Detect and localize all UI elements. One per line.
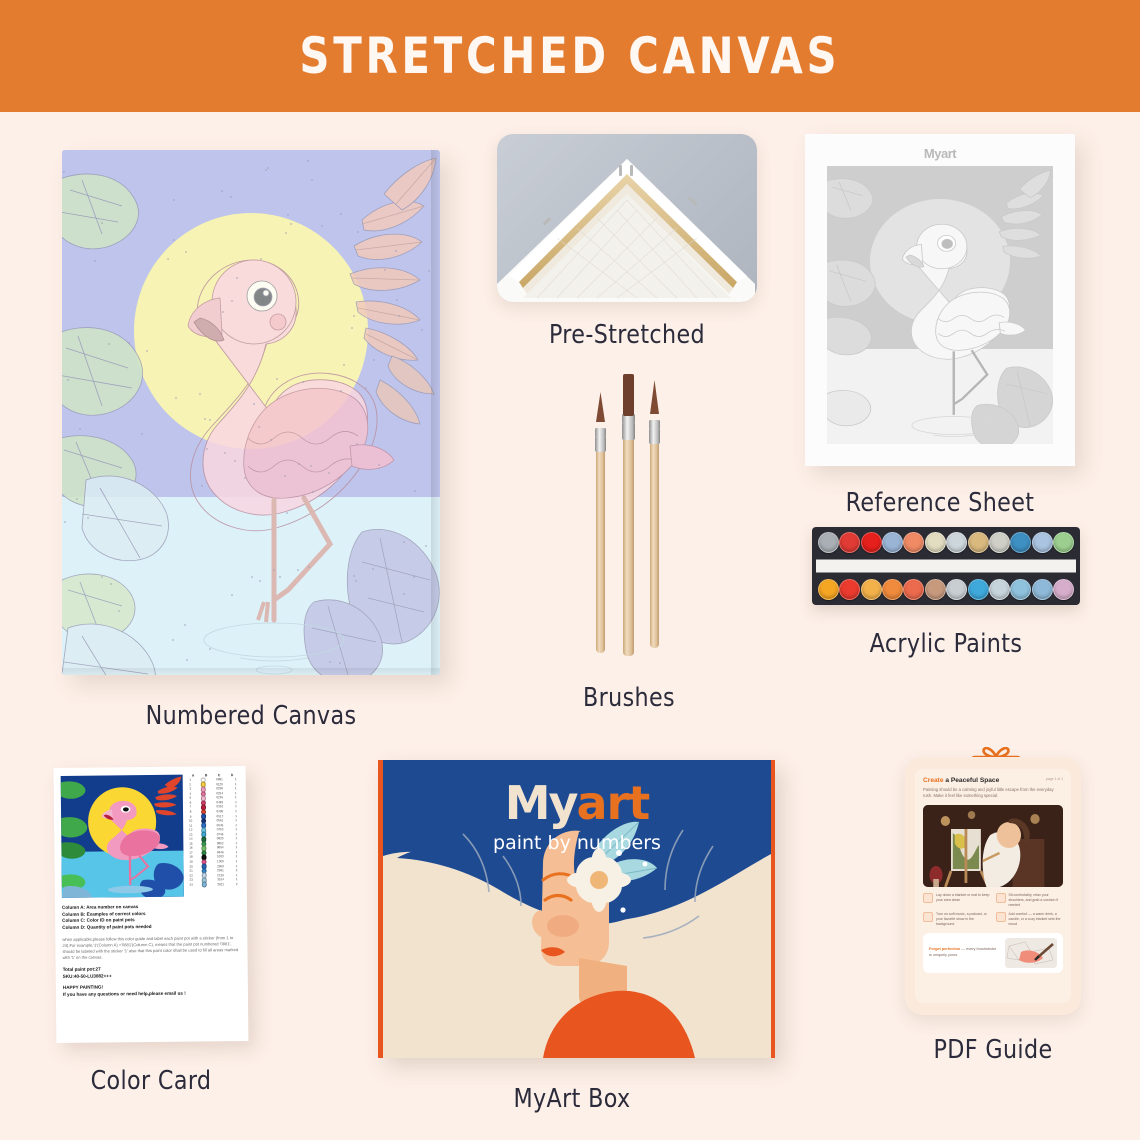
canvas-number-dot [87, 517, 89, 519]
cell-color-id: 0245 [213, 797, 226, 800]
canvas-number-dot [290, 223, 292, 225]
cell-area-number: 16 [187, 847, 194, 850]
canvas-number-dot [353, 575, 355, 577]
canvas-number-dot [128, 342, 130, 344]
canvas-number-dot [328, 472, 330, 474]
canvas-number-dot [421, 329, 423, 331]
product-reference-sheet[interactable]: Myart [805, 134, 1087, 479]
canvas-number-dot [373, 359, 375, 361]
color-card-artwork [61, 775, 184, 898]
page-title: STRETCHED CANVAS [300, 27, 841, 85]
tip-icon [923, 893, 933, 903]
canvas-number-dot [428, 270, 430, 272]
canvas-flamingo-artwork [62, 150, 440, 675]
canvas-number-dot [258, 426, 260, 428]
canvas-number-dot [76, 498, 78, 500]
color-card-paper: A B C D 10881120120130298140254150245160… [54, 766, 249, 1043]
paint-pot[interactable] [861, 579, 882, 600]
tip-item: Sit comfortably, relax your shoulders, a… [996, 893, 1064, 908]
color-card-legend: Column A: Area number on canvas Column B… [62, 903, 240, 931]
paint-tray [812, 527, 1080, 605]
legend-line: Column D: Quantity of paint pots needed [62, 923, 240, 932]
cell-area-number: 1 [187, 779, 194, 782]
canvas-number-dot [340, 213, 342, 215]
logo-my-text: My [505, 776, 577, 830]
color-card-footer: Total paint pot:27 SKU:40-50-LU3882+++ H… [63, 965, 241, 998]
canvas-number-dot [260, 258, 262, 260]
cell-area-number: 23 [188, 879, 195, 882]
canvas-number-dot [64, 521, 66, 523]
cell-color-id: 0854 [214, 847, 227, 850]
pdf-guide-quote: Forget perfection — every brushstroke is… [923, 933, 1063, 973]
canvas-number-dot [279, 576, 281, 578]
color-card-note: when applicable,please follow this color… [62, 935, 240, 961]
caption-pdf-guide: PDF Guide [909, 1035, 1076, 1065]
paint-pot[interactable] [903, 532, 924, 553]
canvas-number-dot [357, 231, 359, 233]
product-myart-box[interactable]: Myart paint by numbers MyArt Box [378, 760, 770, 1070]
paint-tray-label-strip [816, 560, 1076, 573]
col-a: A [192, 775, 194, 778]
cell-area-number: 8 [187, 811, 194, 814]
reference-sheet-logo: Myart [805, 146, 1075, 161]
cell-quantity: 1 [233, 810, 239, 813]
myart-logo: Myart paint by numbers [383, 776, 771, 854]
paint-row-bottom [816, 579, 1076, 600]
canvas-number-dot [94, 260, 96, 262]
tip-item: Lay down a blanket or mat to keep your a… [923, 893, 991, 908]
logo-art-text: art [577, 776, 650, 830]
cell-swatch [201, 882, 207, 888]
reference-sheet-paper: Myart [805, 134, 1075, 466]
tip-text: Sit comfortably, relax your shoulders, a… [1009, 893, 1064, 908]
canvas-number-dot [286, 512, 288, 514]
canvas-number-dot [230, 196, 232, 198]
quote-accent: Forget perfection [929, 947, 960, 951]
paint-pot[interactable] [839, 532, 860, 553]
brush-flat [622, 374, 635, 656]
tip-item: Turn on soft music, a podcast, or your f… [923, 912, 991, 927]
tip-text: Lay down a blanket or mat to keep your a… [936, 893, 991, 908]
paint-pot[interactable] [1053, 579, 1074, 600]
cell-quantity: 1 [233, 846, 239, 849]
paint-pot[interactable] [925, 532, 946, 553]
cell-area-number: 19 [188, 861, 195, 864]
cell-area-number: 3 [187, 788, 194, 791]
cell-area-number: 24 [188, 883, 195, 886]
paint-pot[interactable] [968, 579, 989, 600]
caption-brushes: Brushes [563, 683, 696, 713]
pdf-guide-title: Create a Peaceful Space [923, 777, 1063, 784]
canvas-number-dot [372, 568, 374, 570]
color-card-row: 2439212 [188, 882, 240, 887]
myart-box-image: Myart paint by numbers [378, 760, 775, 1058]
canvas-number-dot [172, 639, 174, 641]
cell-color-id: 0561 [213, 819, 226, 822]
canvas-number-dot [67, 379, 69, 381]
pdf-title-accent: Create [923, 777, 944, 784]
canvas-number-dot [270, 439, 272, 441]
tip-text: Add comfort — a warm drink, a candle, or… [1009, 912, 1064, 927]
canvas-number-dot [355, 580, 357, 582]
cell-color-id: 0753 [214, 828, 227, 831]
product-grid: Numbered Canvas [0, 112, 1140, 1140]
paint-pot[interactable] [968, 532, 989, 553]
cell-color-id: 0820 [214, 837, 227, 840]
canvas-number-dot [365, 387, 367, 389]
cell-area-number: 14 [187, 838, 194, 841]
cell-quantity: 1 [234, 860, 240, 863]
cell-quantity: 1 [234, 878, 240, 881]
canvas-number-dot [403, 541, 405, 543]
quote-thumbnail [1005, 938, 1057, 968]
product-numbered-canvas[interactable]: Numbered Canvas [62, 150, 440, 675]
canvas-frame-corner-illustration [497, 134, 757, 302]
pdf-title-rest: a Peaceful Space [944, 777, 1000, 784]
brush-liner [649, 380, 660, 648]
cell-quantity: 2 [234, 869, 240, 872]
canvas-number-dot [398, 315, 400, 317]
product-acrylic-paints[interactable]: Acrylic Paints [812, 527, 1082, 677]
canvas-edge-shadow-bottom [62, 668, 440, 675]
product-pre-stretched[interactable]: Pre-Stretched [497, 134, 757, 314]
canvas-number-dot [311, 179, 313, 181]
paint-pot[interactable] [1010, 579, 1031, 600]
cell-color-id: 0298 [213, 787, 226, 790]
pdf-page-number: page 1 of 1 [1046, 777, 1063, 781]
paint-pot[interactable] [1032, 579, 1053, 600]
paint-pot[interactable] [818, 532, 839, 553]
numbered-canvas-image [62, 150, 440, 675]
caption-numbered-canvas: Numbered Canvas [71, 701, 430, 731]
cell-quantity: 1 [233, 837, 239, 840]
tip-item: Add comfort — a warm drink, a candle, or… [996, 912, 1064, 927]
col-d: D [231, 774, 233, 777]
cell-area-number: 12 [187, 829, 194, 832]
tip-text: Turn on soft music, a podcast, or your f… [936, 912, 991, 927]
product-brushes[interactable]: Brushes [560, 362, 700, 682]
tip-icon [923, 912, 933, 922]
cell-quantity: 1 [233, 787, 239, 790]
cell-color-id: 3921 [214, 883, 227, 886]
product-pdf-guide[interactable]: page 1 of 1 Create a Peaceful Space Pain… [905, 757, 1087, 1057]
cell-area-number: 5 [187, 797, 194, 800]
contact-line: If you have any questions or need help,p… [63, 990, 241, 999]
paint-pot[interactable] [946, 579, 967, 600]
brush-small [595, 392, 606, 653]
caption-pre-stretched: Pre-Stretched [504, 320, 751, 350]
canvas-number-dot [231, 300, 233, 302]
paint-pot[interactable] [839, 579, 860, 600]
cell-color-id: 3154 [214, 878, 227, 881]
paint-pot[interactable] [818, 579, 839, 600]
paint-pot[interactable] [989, 532, 1010, 553]
paint-pot[interactable] [1010, 532, 1031, 553]
cell-area-number: 10 [187, 820, 194, 823]
paint-pot[interactable] [903, 579, 924, 600]
caption-myart-box: MyArt Box [388, 1084, 757, 1114]
paint-pot[interactable] [925, 579, 946, 600]
pre-stretched-image [497, 134, 757, 302]
color-card-flamingo [61, 775, 184, 898]
color-card-table: A B C D 10881120120130298140254150245160… [187, 774, 240, 897]
canvas-number-dot [307, 160, 309, 162]
logo-tagline: paint by numbers [383, 832, 771, 854]
canvas-number-dot [384, 269, 386, 271]
cell-color-id: 0409 [213, 810, 226, 813]
quote-text: Forget perfection — every brushstroke is… [929, 947, 1000, 958]
paint-pot[interactable] [1032, 532, 1053, 553]
canvas-number-dot [101, 576, 103, 578]
caption-acrylic-paints: Acrylic Paints [819, 629, 1074, 659]
tip-icon [996, 912, 1006, 922]
canvas-number-dot [108, 343, 110, 345]
reference-sheet-artwork [827, 166, 1053, 444]
paint-pot[interactable] [861, 532, 882, 553]
brushes-image [560, 362, 700, 662]
ref-flamingo-outline [827, 166, 1053, 444]
cell-quantity: 1 [233, 828, 239, 831]
cell-quantity: 1 [233, 796, 239, 799]
pdf-guide-page: page 1 of 1 Create a Peaceful Space Pain… [915, 769, 1071, 1003]
pdf-guide-photo [923, 805, 1063, 887]
canvas-edge-shadow-right [431, 150, 440, 675]
cell-quantity: 1 [233, 819, 239, 822]
paint-pot[interactable] [1053, 532, 1074, 553]
canvas-number-dot [234, 460, 236, 462]
caption-reference-sheet: Reference Sheet [812, 488, 1069, 518]
paint-pot[interactable] [946, 532, 967, 553]
paint-pot[interactable] [882, 579, 903, 600]
cell-color-id: 2991 [214, 869, 227, 872]
pdf-guide-tips: Lay down a blanket or mat to keep your a… [923, 893, 1063, 927]
canvas-number-dot [201, 485, 203, 487]
pdf-guide-subtitle: Painting should be a calming and joyful … [923, 787, 1063, 800]
pdf-guide-card: page 1 of 1 Create a Peaceful Space Pain… [905, 757, 1081, 1015]
product-color-card[interactable]: A B C D 10881120120130298140254150245160… [55, 767, 255, 1057]
paint-pot[interactable] [882, 532, 903, 553]
caption-color-card: Color Card [60, 1066, 242, 1096]
canvas-number-dot [329, 661, 331, 663]
cell-color-id: 0881 [213, 778, 226, 781]
paint-row-top [816, 532, 1076, 553]
canvas-number-dot [353, 315, 355, 317]
cell-color-id: 1309 [214, 860, 227, 863]
cell-quantity: 2 [234, 883, 240, 886]
page-header: STRETCHED CANVAS [0, 0, 1140, 112]
cell-quantity: 1 [233, 778, 239, 781]
cell-area-number: 21 [188, 870, 195, 873]
tip-icon [996, 893, 1006, 903]
paint-pot[interactable] [989, 579, 1010, 600]
